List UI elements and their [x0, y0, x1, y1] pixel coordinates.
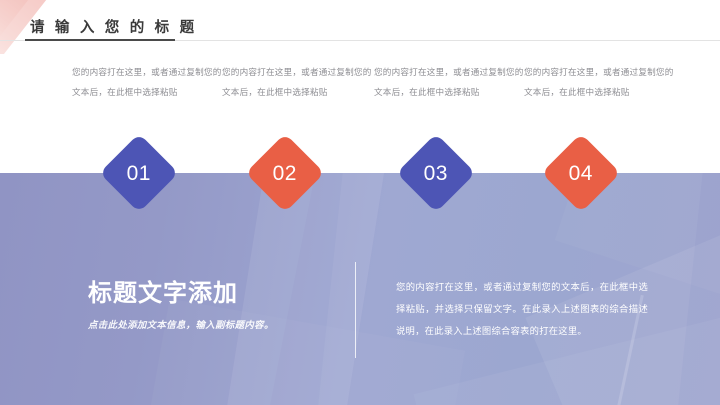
title-underline-accent	[25, 39, 175, 41]
slide-canvas: 请 输 入 您 的 标 题 您的内容打在这里，或者通过复制您的文本后，在此框中选…	[0, 0, 720, 405]
description-column-3: 您的内容打在这里，或者通过复制您的文本后，在此框中选择粘贴	[374, 62, 526, 102]
description-column-1: 您的内容打在这里，或者通过复制您的文本后，在此框中选择粘贴	[72, 62, 224, 102]
band-vertical-divider	[355, 262, 356, 358]
description-row: 您的内容打在这里，或者通过复制您的文本后，在此框中选择粘贴 您的内容打在这里，或…	[0, 62, 720, 132]
step-number-03: 03	[424, 162, 448, 183]
band-subheadline: 点击此处添加文本信息，输入副标题内容。	[88, 317, 274, 331]
band-headline: 标题文字添加	[88, 273, 238, 308]
step-number-02: 02	[273, 162, 297, 183]
band-facet-2	[221, 173, 389, 405]
description-column-4: 您的内容打在这里，或者通过复制您的文本后，在此框中选择粘贴	[524, 62, 676, 102]
description-column-2: 您的内容打在这里，或者通过复制您的文本后，在此框中选择粘贴	[222, 62, 374, 102]
step-number-01: 01	[127, 162, 151, 183]
step-number-04: 04	[569, 162, 593, 183]
band-paragraph: 您的内容打在这里，或者通过复制您的文本后，在此框中选择粘贴，并选择只保留文字。在…	[396, 276, 648, 342]
page-title: 请 输 入 您 的 标 题	[30, 16, 197, 37]
